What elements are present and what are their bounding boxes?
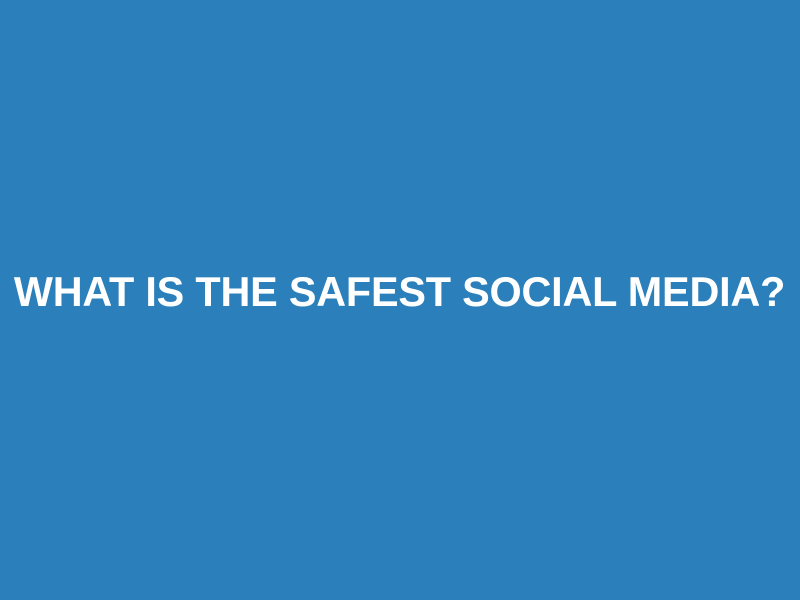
banner-content: WHAT IS THE SAFEST SOCIAL MEDIA? [0,270,800,315]
featured-image-banner: WHAT IS THE SAFEST SOCIAL MEDIA? [0,0,800,600]
banner-headline: WHAT IS THE SAFEST SOCIAL MEDIA? [14,270,785,315]
